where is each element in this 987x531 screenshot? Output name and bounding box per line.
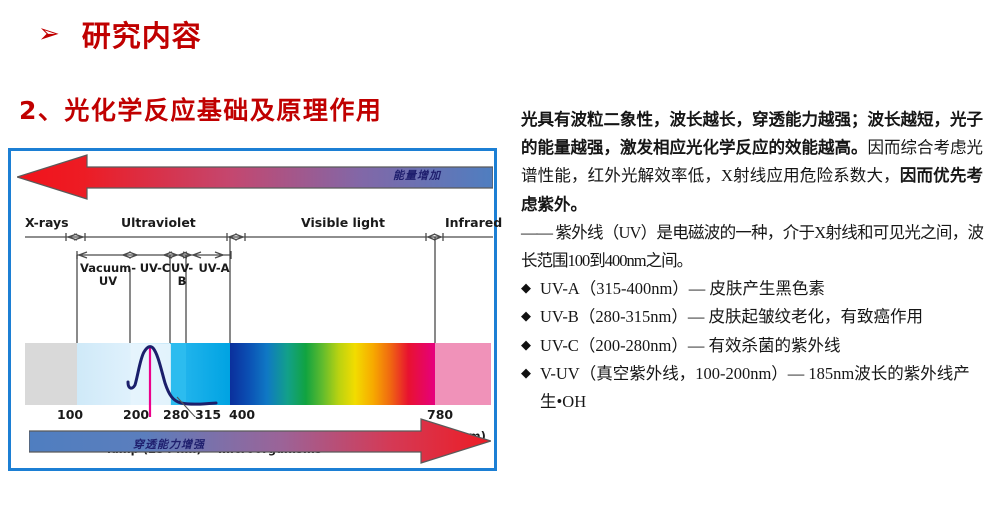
energy-increase-arrow: 能量增加 xyxy=(17,154,493,200)
energy-arrow-label: 能量增加 xyxy=(393,167,441,183)
list-item: ◆ V-UV（真空紫外线，100-200nm）— 185nm波长的紫外线产生•O… xyxy=(521,360,983,416)
strip-seg-uv-a xyxy=(186,343,230,405)
arrow-bullet-icon: ➢ xyxy=(38,21,60,47)
strip-seg-uv-b xyxy=(170,343,186,405)
uv-spectrum-figure: 能量增加 xyxy=(8,148,497,471)
list-item-label: UV-B（280-315nm）— 皮肤起皱纹老化，有致癌作用 xyxy=(540,303,983,331)
penetration-arrow-shape xyxy=(29,418,491,464)
strip-seg-visible xyxy=(230,343,435,405)
band-label-xrays: X-rays xyxy=(25,215,69,230)
diamond-bullet-icon: ◆ xyxy=(521,360,531,388)
paragraph-2: —— 紫外线（UV）是电磁波的一种，介于X射线和可见光之间，波长范围100到40… xyxy=(521,219,983,275)
penetration-increase-arrow: 穿透能力增强 xyxy=(29,418,491,464)
slide-title-text: 研究内容 xyxy=(82,13,202,55)
diamond-bullet-icon: ◆ xyxy=(521,332,531,360)
strip-seg-xray xyxy=(25,343,77,405)
band-label-visible: Visible light xyxy=(301,215,385,230)
diamond-bullet-icon: ◆ xyxy=(521,275,531,303)
band-label-infrared: Infrared xyxy=(445,215,502,230)
strip-seg-uv-c xyxy=(130,343,170,405)
subband-label-uv-a: UV-A xyxy=(193,262,235,275)
strip-seg-infrared xyxy=(435,343,491,405)
list-item-label: UV-A（315-400nm）— 皮肤产生黑色素 xyxy=(540,275,983,303)
page-title: ➢ 研究内容 xyxy=(38,13,202,55)
paragraph-1: 光具有波粒二象性，波长越长，穿透能力越强；波长越短，光子的能量越强，激发相应光化… xyxy=(521,106,983,219)
diamond-bullet-icon: ◆ xyxy=(521,303,531,331)
list-item: ◆ UV-A（315-400nm）— 皮肤产生黑色素 xyxy=(521,275,983,303)
list-item: ◆ UV-C（200-280nm）— 有效杀菌的紫外线 xyxy=(521,332,983,360)
subband-label-uv-c: UV-C xyxy=(135,262,175,275)
list-item: ◆ UV-B（280-315nm）— 皮肤起皱纹老化，有致癌作用 xyxy=(521,303,983,331)
explanation-text-column: 光具有波粒二象性，波长越长，穿透能力越强；波长越短，光子的能量越强，激发相应光化… xyxy=(521,106,983,416)
list-item-label: V-UV（真空紫外线，100-200nm）— 185nm波长的紫外线产生•OH xyxy=(540,360,983,416)
section-title: 2、光化学反应基础及原理作用 xyxy=(19,91,382,127)
spectrum-color-strip xyxy=(25,343,491,405)
penetration-arrow-label: 穿透能力增强 xyxy=(133,436,205,452)
subband-label-uv-b: UV- B xyxy=(171,262,193,288)
subband-label-vacuum-uv: Vacuum- UV xyxy=(75,262,141,288)
strip-seg-vacuum-uv xyxy=(77,343,130,405)
band-label-ultraviolet: Ultraviolet xyxy=(121,215,196,230)
list-item-label: UV-C（200-280nm）— 有效杀菌的紫外线 xyxy=(540,332,983,360)
spectrum-region: X-rays Ultraviolet Visible light Infrare… xyxy=(11,207,494,417)
